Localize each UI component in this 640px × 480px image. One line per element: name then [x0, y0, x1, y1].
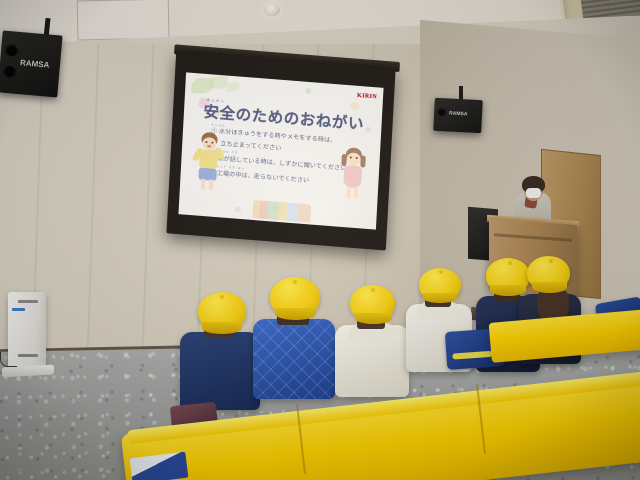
- cap-brim: [423, 293, 457, 303]
- navy-jacket: [180, 332, 260, 410]
- speaker-cone: [437, 107, 446, 116]
- cap-brim: [275, 308, 316, 320]
- face-mask-icon: [526, 188, 541, 198]
- blue-quilted-jacket: [253, 319, 335, 399]
- cap-button: [439, 270, 443, 274]
- purifier-indicator-light: [12, 308, 25, 311]
- cap-button: [371, 288, 375, 292]
- town-illustration: [252, 200, 311, 223]
- bubble-decoration: [350, 101, 359, 111]
- purifier-vent-slot: [18, 300, 38, 303]
- slide-canvas: KIRIN あんぜん 安全のためのおねがい すいぶん ① 水分ほきゅうをする時や…: [178, 72, 383, 229]
- ramsa-speaker-right: RAMSA: [433, 98, 483, 133]
- cap-brim: [355, 313, 392, 324]
- cap-button: [508, 261, 512, 265]
- cartoon-girl-illustration: [337, 147, 368, 203]
- cartoon-boy-illustration: [192, 131, 225, 191]
- cap-brim: [490, 285, 526, 296]
- backpack-stripe: [452, 351, 492, 360]
- kirin-logo: KIRIN: [357, 93, 377, 101]
- cap-brim: [202, 322, 242, 334]
- ramsa-brand-label: RAMSA: [449, 111, 468, 118]
- cap-button: [293, 280, 297, 284]
- speaker-cone: [5, 43, 19, 57]
- bubble-decoration: [305, 88, 311, 94]
- projection-screen: KIRIN あんぜん 安全のためのおねがい すいぶん ① 水分ほきゅうをする時や…: [166, 52, 395, 251]
- ramsa-speaker-left: RAMSA: [0, 31, 63, 98]
- ramsa-brand-label: RAMSA: [20, 58, 50, 70]
- bubble-decoration: [235, 207, 241, 213]
- cap-button: [549, 259, 553, 263]
- leaf-decoration: [225, 81, 240, 92]
- ceiling-downlight: [263, 3, 280, 17]
- cap-brim: [532, 282, 567, 293]
- cap-button: [220, 295, 224, 299]
- briefing-room-photo: RAMSA RAMSA KIRIN: [0, 0, 640, 480]
- ceiling-access-panel: [77, 0, 170, 40]
- speaker-cone: [3, 64, 17, 78]
- power-cord: [0, 352, 17, 367]
- purifier-vent-slot: [18, 354, 38, 357]
